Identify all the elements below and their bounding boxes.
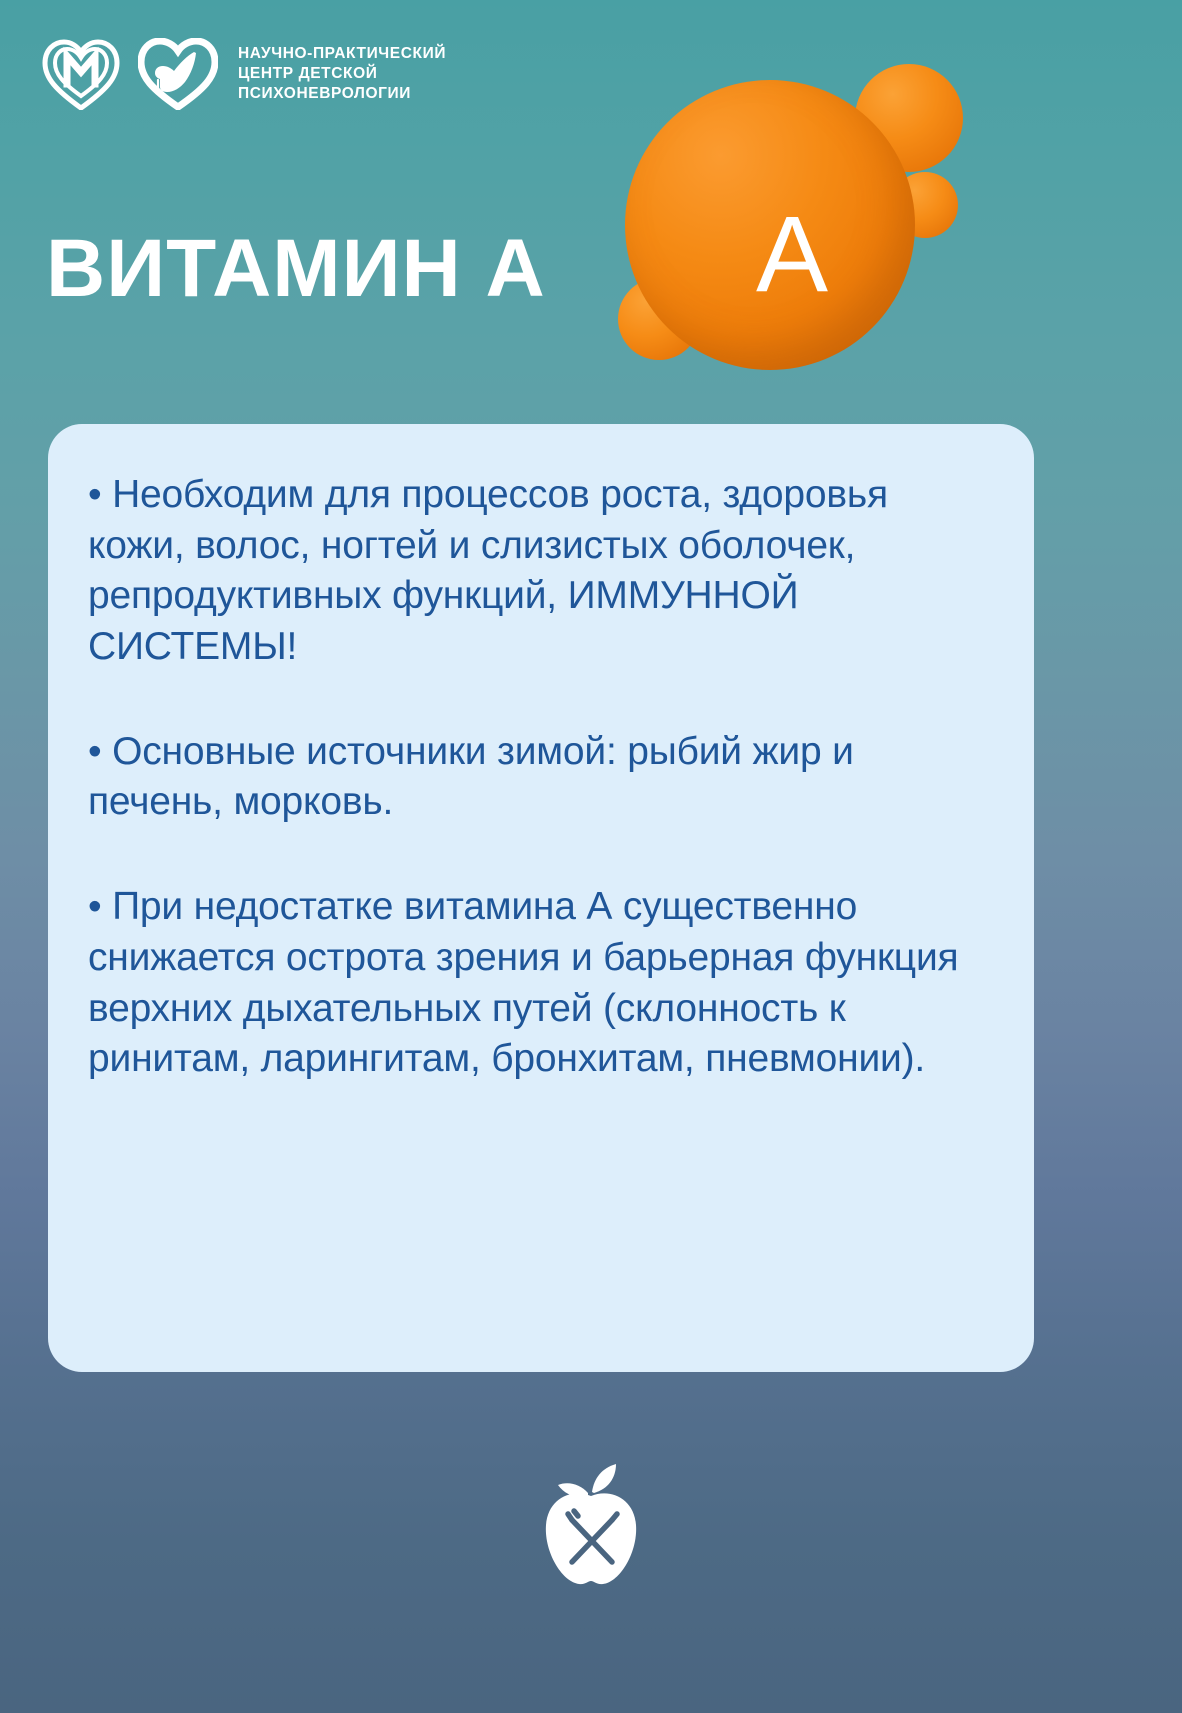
vitamin-letter: A xyxy=(732,200,852,308)
list-item: • При недостатке витамина А существенно … xyxy=(88,882,986,1085)
page-title: ВИТАМИН А xyxy=(46,228,546,310)
header-logo-row: НАУЧНО-ПРАКТИЧЕСКИЙ ЦЕНТР ДЕТСКОЙ ПСИХОН… xyxy=(42,38,446,110)
bullet-list: • Необходим для процессов роста, здоровь… xyxy=(88,470,986,1085)
mos-heart-logo-icon xyxy=(42,38,120,110)
info-card: • Необходим для процессов роста, здоровь… xyxy=(48,424,1034,1372)
org-name-text: НАУЧНО-ПРАКТИЧЕСКИЙ ЦЕНТР ДЕТСКОЙ ПСИХОН… xyxy=(238,44,446,103)
child-in-heart-logo-icon xyxy=(138,38,218,110)
poster-root: НАУЧНО-ПРАКТИЧЕСКИЙ ЦЕНТР ДЕТСКОЙ ПСИХОН… xyxy=(0,0,1182,1713)
apple-fork-knife-icon xyxy=(532,1462,650,1624)
footer xyxy=(0,1372,1182,1713)
list-item: • Основные источники зимой: рыбий жир и … xyxy=(88,727,986,828)
vitamin-molecule-graphic: A xyxy=(600,50,1020,400)
list-item: • Необходим для процессов роста, здоровь… xyxy=(88,470,986,673)
